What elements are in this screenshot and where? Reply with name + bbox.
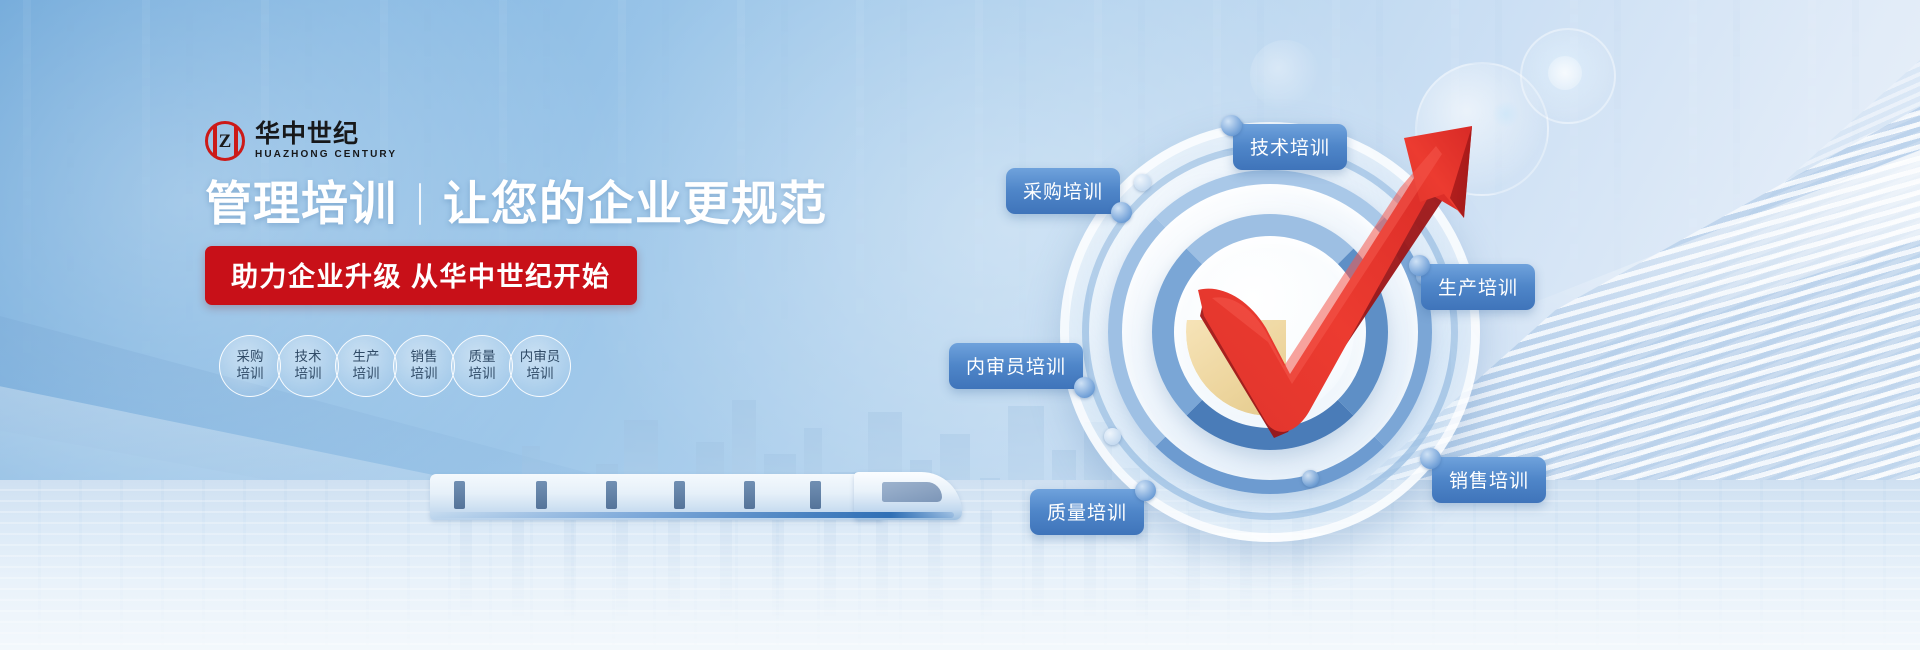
train-nose — [854, 472, 962, 520]
pill-label: 生产培训 — [1438, 273, 1518, 300]
pale-wedge-left — [0, 360, 780, 650]
course-chip-list: 采购 培训 技术 培训 生产 培训 销售 培训 质量 培训 内审员 培训 — [219, 335, 845, 397]
tagline-badge: 助力企业升级 从华中世纪开始 — [205, 246, 637, 305]
headline-part-2: 让您的企业更规范 — [443, 178, 827, 230]
chip-line-1: 技术 — [295, 349, 322, 365]
course-chip-quality[interactable]: 质量 培训 — [451, 335, 513, 397]
label-technical-training[interactable]: 技术培训 — [1233, 124, 1347, 170]
promo-banner: Z 华中世纪 HUAZHONG CENTURY 管理培训 让您的企业更规范 助力… — [0, 0, 1920, 650]
chip-line-2: 培训 — [237, 366, 264, 382]
bokeh-circle-icon — [1520, 28, 1616, 124]
chip-line-1: 质量 — [469, 349, 496, 365]
pill-label: 技术培训 — [1250, 133, 1330, 160]
logo-wordmark: 华中世纪 HUAZHONG CENTURY — [255, 121, 397, 162]
pill-label: 质量培训 — [1047, 498, 1127, 525]
train-stripe — [430, 512, 954, 518]
chip-line-1: 生产 — [353, 349, 380, 365]
bokeh-circle-icon — [1548, 56, 1582, 90]
headline-divider — [419, 183, 421, 225]
chip-line-2: 培训 — [353, 366, 380, 382]
train-window — [882, 482, 942, 502]
chip-line-2: 培训 — [411, 366, 438, 382]
logo-emblem-icon: Z — [205, 121, 245, 161]
logo-name-en: HUAZHONG CENTURY — [255, 148, 397, 161]
chip-line-1: 采购 — [237, 349, 264, 365]
page-title: 管理培训 让您的企业更规范 — [205, 178, 845, 230]
chip-line-2: 培训 — [527, 366, 554, 382]
label-purchasing-training[interactable]: 采购培训 — [1006, 168, 1120, 214]
course-chip-production[interactable]: 生产 培训 — [335, 335, 397, 397]
course-chip-technical[interactable]: 技术 培训 — [277, 335, 339, 397]
train-body — [430, 474, 882, 520]
label-sales-training[interactable]: 销售培训 — [1432, 457, 1546, 503]
high-speed-train — [430, 462, 950, 520]
label-quality-training[interactable]: 质量培训 — [1030, 489, 1144, 535]
pill-label: 采购培训 — [1023, 177, 1103, 204]
logo-name-cn: 华中世纪 — [255, 121, 397, 148]
label-internal-auditor-training[interactable]: 内审员培训 — [949, 343, 1083, 389]
logo-mark-char: Z — [219, 132, 232, 151]
pill-label: 销售培训 — [1449, 466, 1529, 493]
course-chip-sales[interactable]: 销售 培训 — [393, 335, 455, 397]
floor-horizontal-lines — [0, 480, 1920, 650]
bokeh-circle-icon — [1250, 40, 1320, 110]
chip-line-1: 内审员 — [520, 349, 561, 365]
target-graphic — [1060, 122, 1480, 542]
chip-line-1: 销售 — [411, 349, 438, 365]
floor-vertical-lines — [0, 480, 1920, 650]
course-chip-purchasing[interactable]: 采购 培训 — [219, 335, 281, 397]
label-production-training[interactable]: 生产培训 — [1421, 264, 1535, 310]
headline-part-1: 管理培训 — [205, 178, 397, 230]
brand-logo[interactable]: Z 华中世纪 HUAZHONG CENTURY — [205, 118, 845, 164]
banner-copy-block: Z 华中世纪 HUAZHONG CENTURY 管理培训 让您的企业更规范 助力… — [205, 118, 845, 397]
pill-label: 内审员培训 — [966, 352, 1066, 379]
chip-line-2: 培训 — [469, 366, 496, 382]
chip-line-2: 培训 — [295, 366, 322, 382]
course-chip-internal-auditor[interactable]: 内审员 培训 — [509, 335, 571, 397]
reflective-floor — [0, 480, 1920, 650]
